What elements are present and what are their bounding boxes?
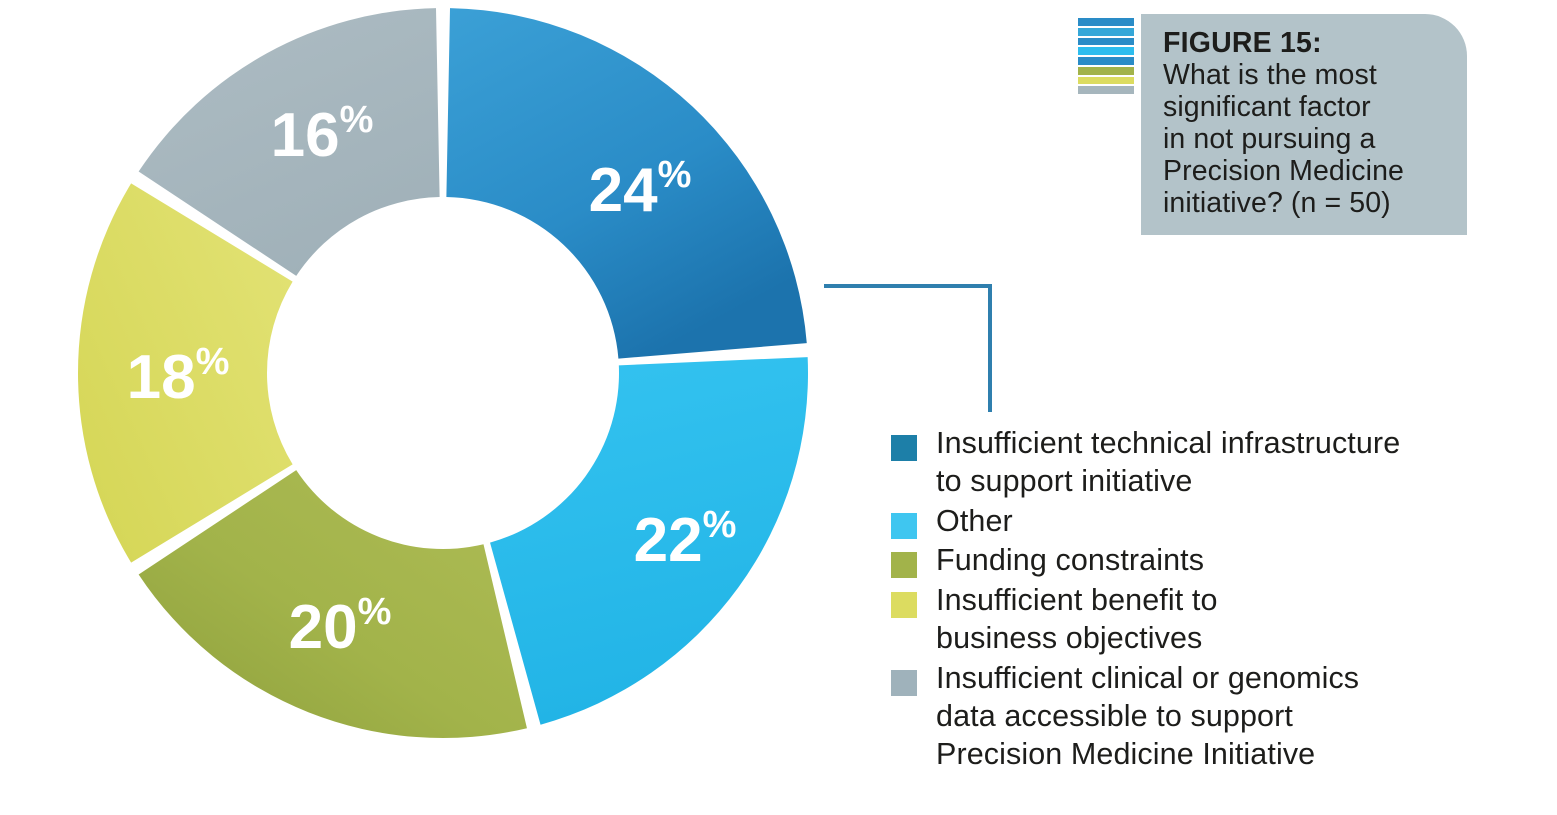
legend-label-4: Insufficient benefit to business objecti…	[936, 581, 1218, 658]
icon-bar-4	[1078, 47, 1134, 55]
legend-item-2[interactable]: Other	[891, 502, 1531, 540]
leader-line	[818, 276, 1008, 421]
donut-chart: 24%22%20%18%16%	[0, 0, 830, 815]
icon-bar-1	[1078, 18, 1134, 26]
legend-item-3[interactable]: Funding constraints	[891, 541, 1531, 579]
chart-legend: Insufficient technical infrastructure to…	[891, 424, 1531, 775]
figure-root: 24%22%20%18%16% FIGURE 15: What is the m…	[0, 0, 1557, 815]
stacked-bars-icon	[1078, 18, 1134, 94]
icon-bar-8	[1078, 86, 1134, 94]
legend-label-2: Other	[936, 502, 1013, 540]
icon-bar-7	[1078, 77, 1134, 85]
donut-chart-svg: 24%22%20%18%16%	[0, 0, 830, 815]
legend-label-1: Insufficient technical infrastructure to…	[936, 424, 1400, 501]
legend-label-3: Funding constraints	[936, 541, 1204, 579]
figure-caption: FIGURE 15: What is the most significant …	[1078, 14, 1467, 235]
legend-swatch-5	[891, 670, 917, 696]
leader-line-path	[824, 286, 990, 412]
figure-label: FIGURE 15:	[1163, 28, 1445, 60]
icon-bar-3	[1078, 38, 1134, 46]
legend-swatch-1	[891, 435, 917, 461]
icon-bar-2	[1078, 28, 1134, 36]
icon-bar-5	[1078, 57, 1134, 65]
legend-item-5[interactable]: Insufficient clinical or genomics data a…	[891, 659, 1531, 774]
legend-item-1[interactable]: Insufficient technical infrastructure to…	[891, 424, 1531, 501]
figure-question: What is the most significant factor in n…	[1163, 60, 1445, 220]
legend-swatch-4	[891, 592, 917, 618]
legend-swatch-3	[891, 552, 917, 578]
legend-swatch-2	[891, 513, 917, 539]
icon-bar-6	[1078, 67, 1134, 75]
caption-box: FIGURE 15: What is the most significant …	[1141, 14, 1467, 235]
legend-item-4[interactable]: Insufficient benefit to business objecti…	[891, 581, 1531, 658]
legend-label-5: Insufficient clinical or genomics data a…	[936, 659, 1359, 774]
